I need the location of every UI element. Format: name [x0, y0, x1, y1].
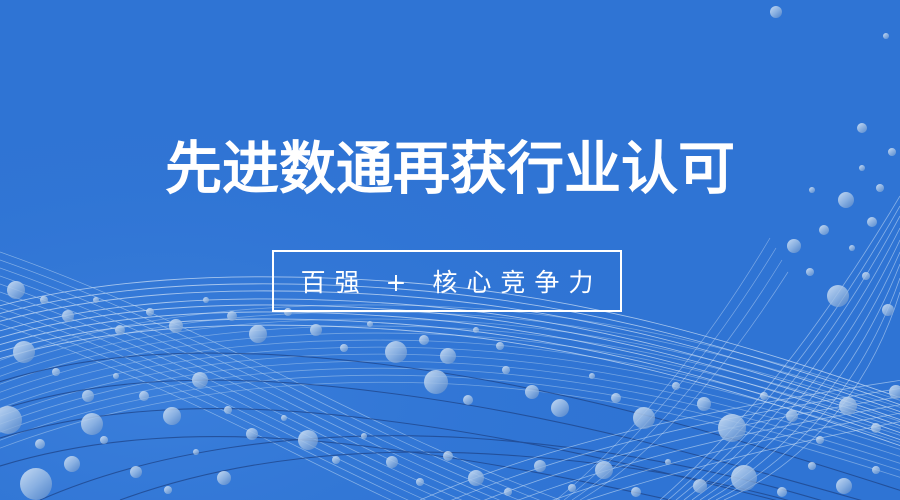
banner-content: 先进数通再获行业认可 百强 + 核心竞争力 — [0, 0, 900, 500]
banner-graphic: 先进数通再获行业认可 百强 + 核心竞争力 — [0, 0, 900, 500]
subtitle-frame: 百强 + 核心竞争力 — [272, 250, 622, 312]
subtitle-label: 百强 + 核心竞争力 — [274, 252, 620, 310]
page-title: 先进数通再获行业认可 — [0, 136, 900, 202]
